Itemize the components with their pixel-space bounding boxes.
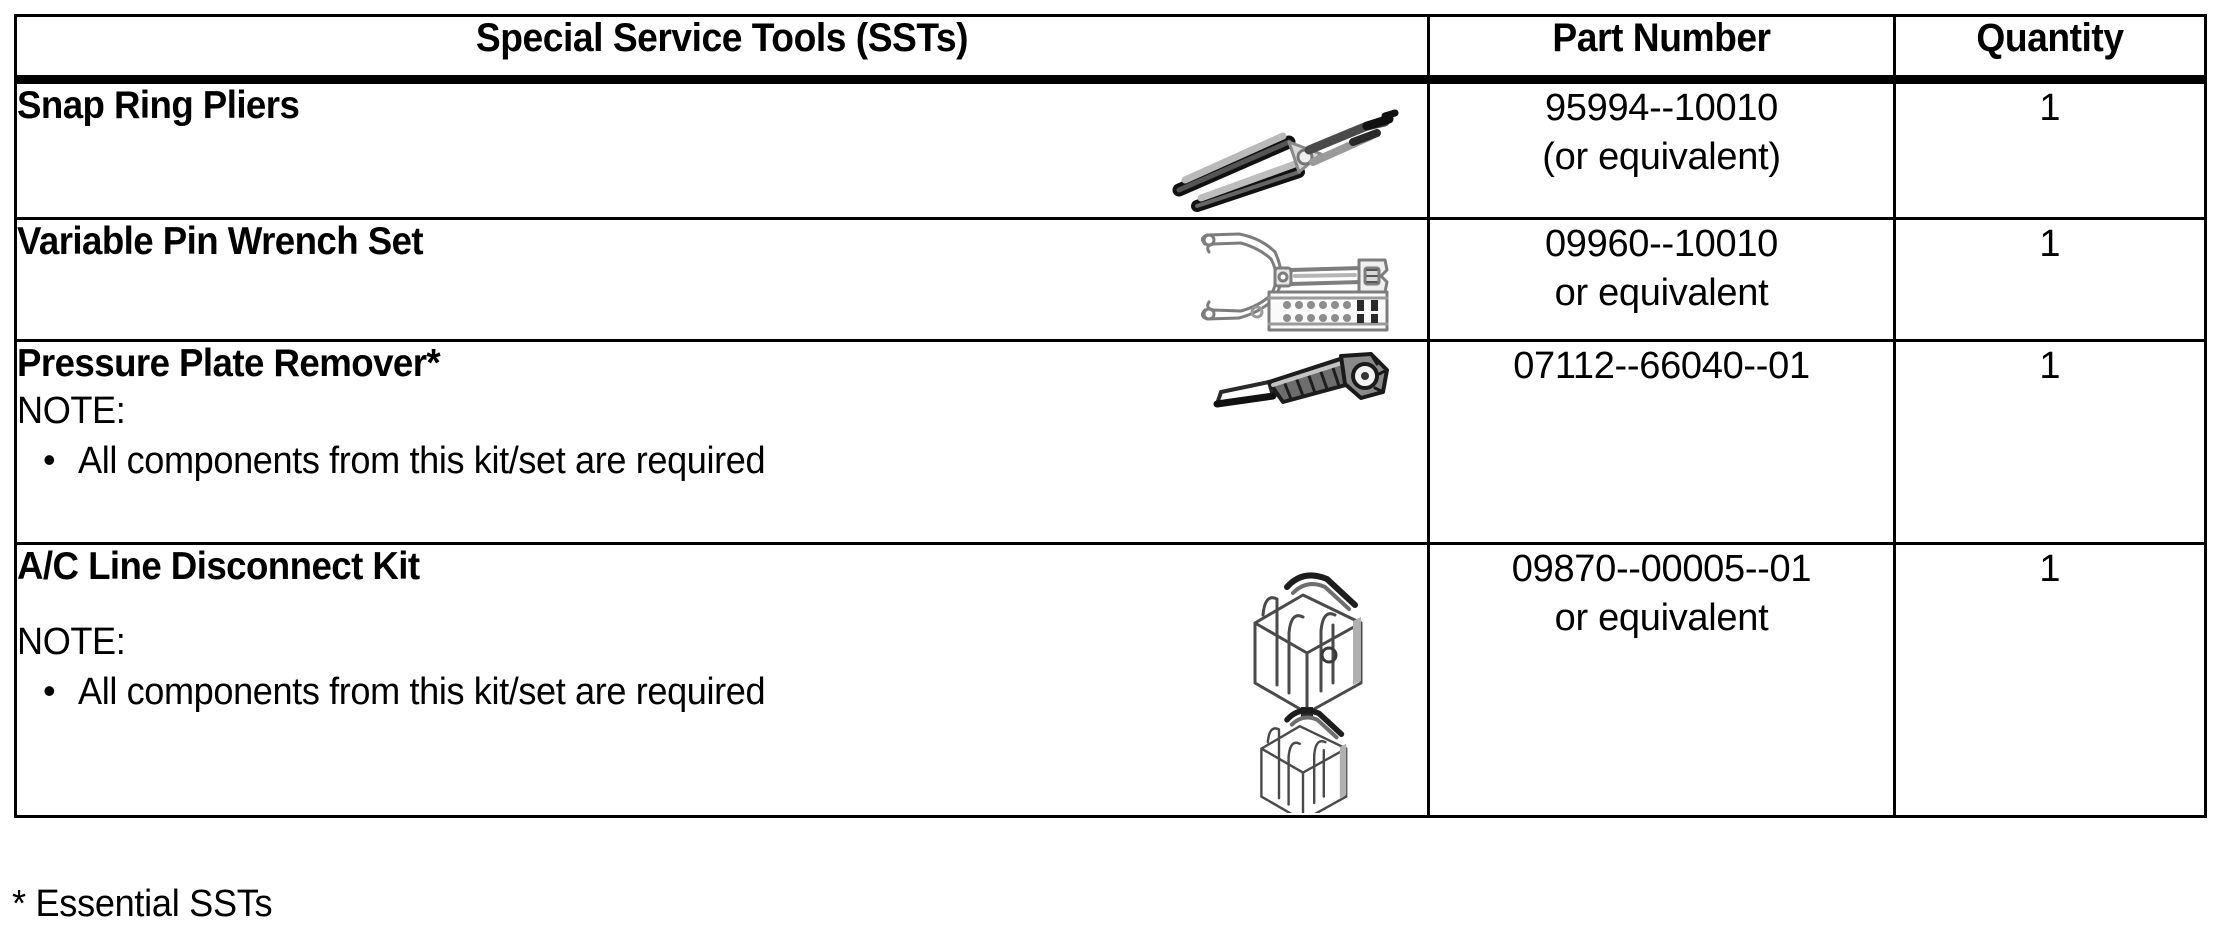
tool-cell: Variable Pin Wrench Set bbox=[16, 219, 1429, 341]
tool-cell: A/C Line Disconnect Kit NOTE: • All comp… bbox=[16, 544, 1429, 817]
column-header-quantity-label: Quantity bbox=[1907, 17, 2193, 59]
document-page: Special Service Tools (SSTs) Part Number… bbox=[0, 0, 2220, 942]
part-number-note: or equivalent bbox=[1430, 594, 1893, 643]
table-row: Snap Ring Pliers bbox=[16, 80, 2206, 219]
tool-name: Pressure Plate Remover* bbox=[17, 342, 1342, 386]
table-header: Special Service Tools (SSTs) Part Number… bbox=[16, 16, 2206, 80]
column-header-part-number-label: Part Number bbox=[1446, 17, 1877, 59]
tool-name: Variable Pin Wrench Set bbox=[17, 220, 1342, 264]
part-number-line: 09870--00005--01 bbox=[1430, 545, 1893, 594]
column-header-tools-label: Special Service Tools (SSTs) bbox=[66, 17, 1377, 59]
note-label: NOTE: bbox=[17, 390, 1357, 433]
tool-cell: Snap Ring Pliers bbox=[16, 80, 1429, 219]
quantity-value: 1 bbox=[2039, 223, 2060, 265]
snap-ring-pliers-icon bbox=[1171, 102, 1403, 214]
variable-pin-wrench-set-icon bbox=[1195, 226, 1391, 332]
bullet-icon: • bbox=[43, 440, 56, 480]
part-number-note: (or equivalent) bbox=[1430, 133, 1893, 182]
tool-name: Snap Ring Pliers bbox=[17, 84, 1342, 128]
quantity-value: 1 bbox=[2039, 87, 2060, 129]
tool-name: A/C Line Disconnect Kit bbox=[17, 545, 1342, 589]
part-number-cell: 07112--66040--01 bbox=[1429, 341, 1895, 544]
part-number-cell: 09870--00005--01 or equivalent bbox=[1429, 544, 1895, 817]
quantity-cell: 1 bbox=[1895, 341, 2206, 544]
column-header-part-number: Part Number bbox=[1429, 16, 1895, 80]
table-row: Pressure Plate Remover* NOTE: • All comp… bbox=[16, 341, 2206, 544]
footnote: * Essential SSTs bbox=[12, 884, 272, 926]
quantity-cell: 1 bbox=[1895, 80, 2206, 219]
part-number-line: 07112--66040--01 bbox=[1430, 342, 1893, 391]
note-label: NOTE: bbox=[17, 621, 1357, 664]
column-header-tools: Special Service Tools (SSTs) bbox=[16, 16, 1429, 80]
quantity-cell: 1 bbox=[1895, 544, 2206, 817]
note-bullet-item: • All components from this kit/set are r… bbox=[17, 440, 1427, 483]
table-row: A/C Line Disconnect Kit NOTE: • All comp… bbox=[16, 544, 2206, 817]
quantity-cell: 1 bbox=[1895, 219, 2206, 341]
part-number-cell: 95994--10010 (or equivalent) bbox=[1429, 80, 1895, 219]
table-body: Snap Ring Pliers bbox=[16, 80, 2206, 817]
part-number-cell: 09960--10010 or equivalent bbox=[1429, 219, 1895, 341]
special-service-tools-table: Special Service Tools (SSTs) Part Number… bbox=[14, 14, 2207, 818]
quantity-value: 1 bbox=[2039, 548, 2060, 590]
bullet-icon: • bbox=[43, 671, 56, 711]
part-number-line: 95994--10010 bbox=[1430, 84, 1893, 133]
note-bullet-text: All components from this kit/set are req… bbox=[78, 671, 765, 714]
part-number-line: 09960--10010 bbox=[1430, 220, 1893, 269]
column-header-quantity: Quantity bbox=[1895, 16, 2206, 80]
table-header-row: Special Service Tools (SSTs) Part Number… bbox=[16, 16, 2206, 80]
quantity-value: 1 bbox=[2039, 345, 2060, 387]
table-row: Variable Pin Wrench Set bbox=[16, 219, 2206, 341]
part-number-note: or equivalent bbox=[1430, 269, 1893, 318]
tool-cell: Pressure Plate Remover* NOTE: • All comp… bbox=[16, 341, 1429, 544]
ac-line-disconnect-kit-icon bbox=[1237, 551, 1383, 813]
note-bullet-text: All components from this kit/set are req… bbox=[78, 440, 765, 483]
note-bullet-item: • All components from this kit/set are r… bbox=[17, 671, 1427, 714]
pressure-plate-remover-icon bbox=[1211, 352, 1397, 426]
